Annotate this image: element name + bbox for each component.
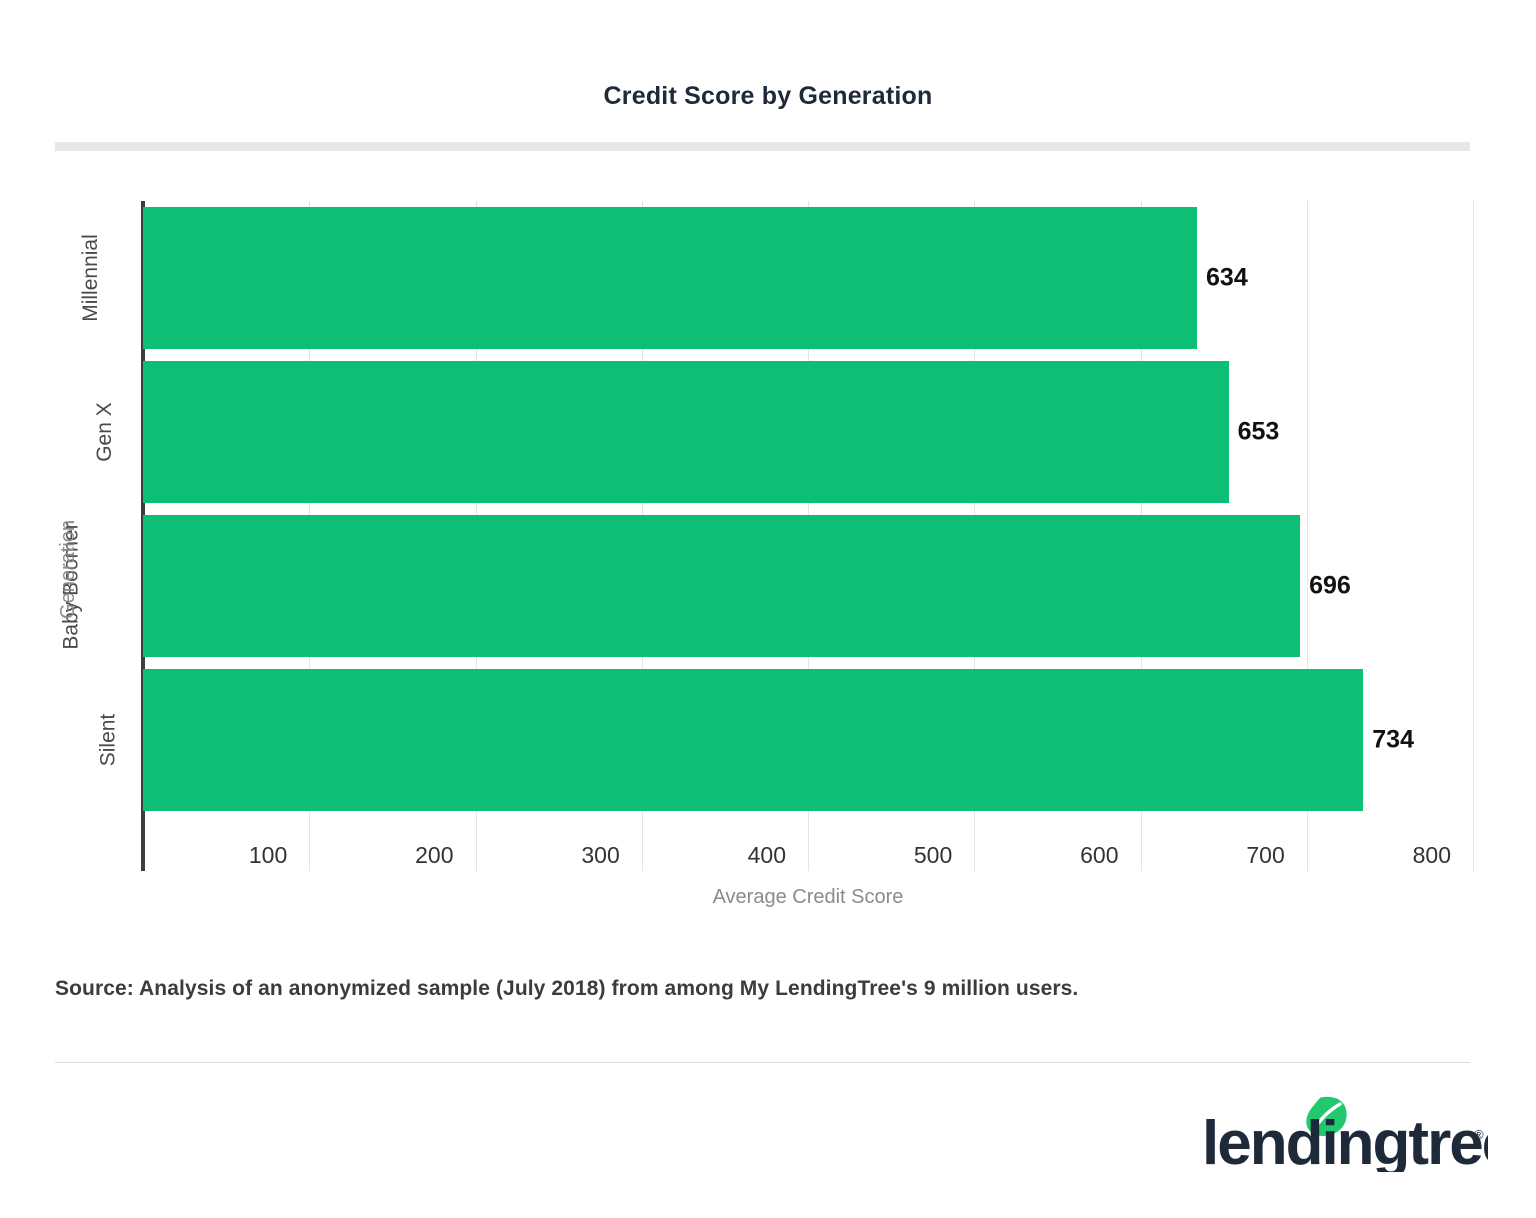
logo-trademark: ® <box>1474 1127 1484 1142</box>
bar-row: 634 <box>143 207 1473 349</box>
x-axis-tick-labels: 100200300400500600700800 <box>143 842 1483 880</box>
chart-page: Credit Score by Generation 634653696734 … <box>0 0 1536 1218</box>
bar-value-label: 696 <box>1300 572 1351 601</box>
logo-wordmark: lendingtree <box>1202 1109 1488 1172</box>
y-axis-tick-label: Silent <box>0 669 141 811</box>
source-note: Source: Analysis of an anonymized sample… <box>55 977 1078 1001</box>
bar <box>143 669 1363 811</box>
x-axis-tick-label: 200 <box>415 842 475 869</box>
lendingtree-logo: lendingtree ® <box>1202 1098 1488 1172</box>
bar <box>143 207 1197 349</box>
bar <box>143 515 1300 657</box>
x-axis-tick-label: 100 <box>249 842 309 869</box>
y-axis-tick-label: Baby Boomer <box>0 515 141 657</box>
footer-divider <box>55 1062 1470 1063</box>
chart-plot-area: 634653696734 MillennialGen XBaby BoomerS… <box>0 0 1536 1218</box>
y-axis-tick-labels: MillennialGen XBaby BoomerSilent <box>0 207 141 823</box>
y-axis-tick-label-text: Silent <box>97 714 121 767</box>
y-axis-tick-label-text: Gen X <box>93 402 117 462</box>
y-axis-tick-label-text: Baby Boomer <box>59 522 83 649</box>
y-axis-tick-label: Millennial <box>0 207 141 349</box>
gridline <box>1473 201 1474 871</box>
bar-value-label: 653 <box>1229 418 1280 447</box>
x-axis-tick-label: 300 <box>581 842 641 869</box>
x-axis-tick-label: 700 <box>1246 842 1306 869</box>
bar-series: 634653696734 <box>143 207 1473 823</box>
bar-row: 734 <box>143 669 1473 811</box>
lendingtree-logo-icon: lendingtree ® <box>1202 1094 1488 1172</box>
bar <box>143 361 1229 503</box>
x-axis-tick-label: 500 <box>914 842 974 869</box>
bar-row: 653 <box>143 361 1473 503</box>
x-axis-title: Average Credit Score <box>143 886 1473 909</box>
x-axis-tick-label: 400 <box>748 842 808 869</box>
y-axis-tick-label-text: Millennial <box>79 234 103 322</box>
y-axis-tick-label: Gen X <box>0 361 141 503</box>
bar-value-label: 634 <box>1197 264 1248 293</box>
bar-row: 696 <box>143 515 1473 657</box>
x-axis-tick-label: 800 <box>1413 842 1473 869</box>
bar-value-label: 734 <box>1363 726 1414 755</box>
x-axis-tick-label: 600 <box>1080 842 1140 869</box>
